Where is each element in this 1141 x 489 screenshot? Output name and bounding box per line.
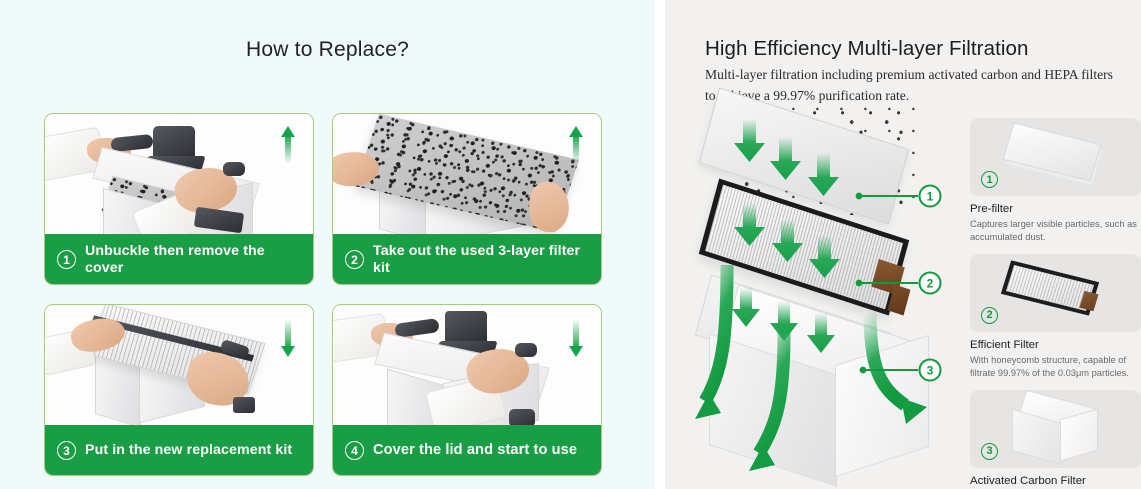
step-number-4: 4	[345, 441, 364, 460]
step-label-4: Cover the lid and start to use	[373, 442, 577, 459]
step-card-1: 1 Unbuckle then remove the cover	[44, 113, 314, 285]
filter-card-activated-carbon-filter: 3 Activated Carbon Filter Absorb harmful…	[970, 390, 1141, 489]
filter-number-1: 1	[981, 171, 998, 188]
step-number-1: 1	[57, 250, 76, 269]
step-card-4: 4 Cover the lid and start to use	[332, 304, 602, 476]
arrow-down-icon-4	[568, 317, 584, 357]
filter-desc-2: With honeycomb structure, capable of fil…	[970, 354, 1141, 381]
filtration-subtitle: Multi-layer filtration including premium…	[705, 64, 1115, 106]
step-label-2: Take out the used 3-layer filter kit	[373, 243, 592, 277]
filter-info-list: 1 Pre-filter Captures larger visible par…	[970, 118, 1141, 489]
step-card-2: 2 Take out the used 3-layer filter kit	[332, 113, 602, 285]
step-caption-4: 4 Cover the lid and start to use	[332, 425, 602, 476]
filter-card-pre-filter: 1 Pre-filter Captures larger visible par…	[970, 118, 1141, 245]
step-number-3: 3	[57, 441, 76, 460]
step-label-1: Unbuckle then remove the cover	[85, 243, 304, 277]
filter-name-2: Efficient Filter	[970, 339, 1141, 351]
how-to-replace-panel: How to Replace?	[0, 0, 655, 489]
step-number-2: 2	[345, 250, 364, 269]
step-photo-2	[333, 114, 601, 234]
replacement-steps-grid: 1 Unbuckle then remove the cover	[44, 113, 612, 476]
step-caption-3: 3 Put in the new replacement kit	[44, 425, 314, 476]
step-caption-1: 1 Unbuckle then remove the cover	[44, 234, 314, 285]
step-photo-1	[45, 114, 313, 234]
arrow-down-icon-3	[280, 317, 296, 357]
step-label-3: Put in the new replacement kit	[85, 442, 292, 459]
filter-name-3: Activated Carbon Filter	[970, 475, 1141, 487]
filter-desc-1: Captures larger visible particles, such …	[970, 218, 1141, 245]
filter-number-2: 2	[981, 307, 998, 324]
filtration-panel: High Efficiency Multi-layer Filtration M…	[665, 0, 1141, 489]
step-photo-3	[45, 305, 313, 425]
pre-filter-illustration	[1002, 122, 1101, 181]
step-card-3: 3 Put in the new replacement kit	[44, 304, 314, 476]
product-feature-page: How to Replace?	[0, 0, 1141, 489]
airflow-arrows	[687, 105, 977, 489]
filter-thumb-2: 2	[970, 254, 1141, 332]
arrow-up-icon-2	[568, 126, 584, 166]
step-caption-2: 2 Take out the used 3-layer filter kit	[332, 234, 602, 285]
arrow-up-icon-1	[280, 126, 296, 166]
filtration-title: High Efficiency Multi-layer Filtration	[705, 37, 1029, 61]
filter-thumb-1: 1	[970, 118, 1141, 196]
step-photo-4	[333, 305, 601, 425]
exploded-filter-diagram	[687, 105, 977, 489]
filter-card-efficient-filter: 2 Efficient Filter With honeycomb struct…	[970, 254, 1141, 381]
filter-name-1: Pre-filter	[970, 203, 1141, 215]
page-title: How to Replace?	[0, 38, 655, 62]
filter-thumb-3: 3	[970, 390, 1141, 468]
filter-number-3: 3	[981, 443, 998, 460]
